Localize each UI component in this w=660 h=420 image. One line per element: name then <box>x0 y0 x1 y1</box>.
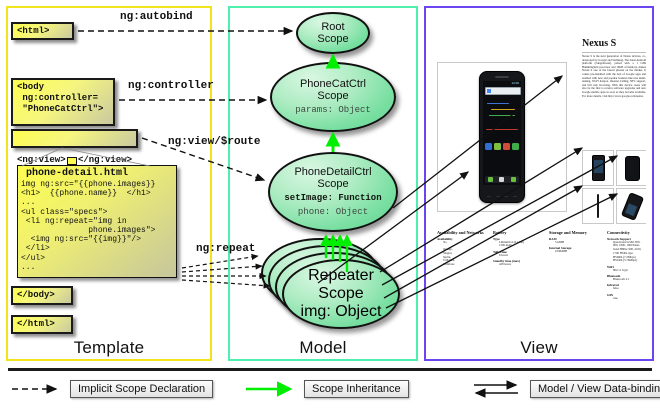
wallpaper-line-1 <box>487 103 509 104</box>
scope-cat-name-2: Scope <box>300 90 366 102</box>
spec-values: 16384MB <box>549 250 603 254</box>
navbar-icon-2 <box>499 177 504 182</box>
navbar-icon-3 <box>511 177 516 182</box>
wallpaper-line-2 <box>491 109 515 110</box>
spec-heading: Connectivity <box>607 230 646 235</box>
legend-dashed-arrow-icon <box>10 380 66 398</box>
spec-column-storage: Storage and Memory RAM 512MB Internal St… <box>549 230 603 254</box>
scope-repeater-name-1: Repeater <box>308 267 374 285</box>
app-icon-1 <box>485 143 492 150</box>
phone-back-thumb-icon <box>625 156 640 181</box>
code-card-filename: phone-detail.html <box>18 166 176 180</box>
spec-heading: Battery <box>493 230 545 235</box>
thumbnail-3[interactable] <box>582 188 614 224</box>
rendered-view-page: 12:00 <box>432 14 646 339</box>
thumbnail-2[interactable] <box>616 150 646 186</box>
legend: Implicit Scope Declaration Scope Inherit… <box>0 366 660 420</box>
spec-values: true <box>607 297 646 301</box>
scope-repeater-field-img: img: Object <box>301 303 382 321</box>
phone-side-thumb-icon <box>597 194 599 218</box>
legend-double-arrow-icon <box>470 380 526 398</box>
thumbnail-4[interactable] <box>616 188 646 224</box>
spec-column-availability: Availability and Networks Availability 3… <box>437 230 489 267</box>
code-box-close-body: </body> <box>11 286 73 305</box>
wallpaper-line-4 <box>486 129 518 130</box>
scope-repeater-name-2: Scope <box>308 285 374 303</box>
wallpaper-line-3 <box>489 115 515 116</box>
spec-values: 3G Orange,Singtel,Sprint,T-Mobile,Vodafo… <box>437 241 489 268</box>
scope-root: Root Scope <box>296 12 370 54</box>
legend-green-arrow-icon <box>244 380 300 398</box>
spec-values: 802.11 b/g/n <box>607 269 646 273</box>
thumbnail-1[interactable] <box>582 150 614 186</box>
phone-angle-thumb-icon <box>620 192 643 221</box>
legend-item-data-binding: Model / View Data-binding <box>470 380 660 398</box>
phone-clock-label: 12:00 <box>511 81 519 85</box>
phone-front-thumb-icon <box>592 155 605 181</box>
legend-label-implicit-scope: Implicit Scope Declaration <box>70 380 213 398</box>
scope-detail-field-setimage: setImage: Function <box>284 193 381 204</box>
legend-item-scope-inheritance: Scope Inheritance <box>244 380 409 398</box>
scope-repeater: Repeater Scope img: Object <box>282 259 400 329</box>
legend-item-implicit-scope: Implicit Scope Declaration <box>10 380 213 398</box>
scope-root-name-1: Root <box>317 21 348 33</box>
ngview-placeholder-icon <box>67 157 77 165</box>
title-divider <box>582 52 646 53</box>
hw-button-4 <box>513 196 517 198</box>
diagram-root: <html> <body ng:controller= "PhoneCatCtr… <box>0 0 660 420</box>
spec-values: 512MB <box>549 241 603 245</box>
scope-cat-name-1: PhoneCatCtrl <box>300 78 366 90</box>
spec-column-battery: Battery Type Lithium Ion (Li-Ion)1500 mA… <box>493 230 545 267</box>
hw-button-1 <box>487 196 491 198</box>
phone-screen: 12:00 <box>483 81 521 185</box>
hw-button-2 <box>496 196 500 198</box>
edge-label-ngview-route: ng:view/$route <box>168 136 260 148</box>
hw-button-3 <box>504 196 508 198</box>
spec-values: Bluetooth 2.1 <box>607 278 646 282</box>
spec-column-connectivity: Connectivity Network Support Quad-band G… <box>607 230 646 300</box>
phone-hero-image: 12:00 <box>479 71 525 203</box>
app-icon-3 <box>503 143 510 150</box>
scope-detail-name-1: PhoneDetailCtrl <box>294 166 371 178</box>
spec-values: Lithium Ion (Li-Ion)1500 mAh <box>493 241 545 249</box>
code-card-source: img ng:src="{{phone.images}} <h1> {{phon… <box>18 180 176 272</box>
code-box-close-html: </html> <box>11 315 73 334</box>
code-box-ngview-tag: <ng:view> </ng:view> <box>11 129 138 148</box>
legend-label-data-binding: Model / View Data-binding <box>530 380 660 398</box>
scope-phonedetailctrl: PhoneDetailCtrl Scope setImage: Function… <box>268 152 398 232</box>
legend-divider <box>8 368 652 371</box>
code-box-html-tag: <html> <box>11 22 74 40</box>
code-box-body-tag: <body ng:controller= "PhoneCatCtrl"> <box>11 78 115 126</box>
spec-values: 6 hours <box>493 254 545 258</box>
legend-label-scope-inheritance: Scope Inheritance <box>304 380 409 398</box>
code-card-phone-detail: phone-detail.html img ng:src="{{phone.im… <box>17 165 177 278</box>
phone-hero-image-frame: 12:00 <box>437 62 567 212</box>
phone-navbar <box>485 176 519 183</box>
scope-detail-field-phone: phone: Object <box>298 207 368 218</box>
product-title: Nexus S <box>582 38 616 49</box>
scope-cat-field-params: params: Object <box>295 105 371 116</box>
phone-speaker-icon <box>495 76 509 78</box>
product-description: Nexus S is the next generation of Nexus … <box>582 55 646 98</box>
spec-values: Quad-band GSM: 850,900, 1800, 1900 Dual-… <box>607 241 646 264</box>
navbar-icon-1 <box>488 177 493 182</box>
phone-status-bar: 12:00 <box>483 81 521 85</box>
phone-search-widget <box>485 87 521 95</box>
edge-label-ngrepeat: ng:repeat <box>196 243 255 255</box>
spec-table: Availability and Networks Availability 3… <box>437 230 646 330</box>
spec-heading: Availability and Networks <box>437 230 489 235</box>
edge-label-controller: ng:controller <box>128 80 214 92</box>
scope-phonecatctrl: PhoneCatCtrl Scope params: Object <box>270 62 396 132</box>
scope-root-name-2: Scope <box>317 33 348 45</box>
phone-hardware-buttons <box>485 194 519 199</box>
edge-label-autobind: ng:autobind <box>120 11 193 23</box>
spec-values: false <box>607 287 646 291</box>
scope-detail-name-2: Scope <box>294 178 371 190</box>
app-icon-2 <box>494 143 501 150</box>
spec-values: 428 hours <box>493 263 545 267</box>
app-icon-4 <box>512 143 519 150</box>
spec-heading: Storage and Memory <box>549 230 603 235</box>
phone-app-row <box>485 143 519 150</box>
